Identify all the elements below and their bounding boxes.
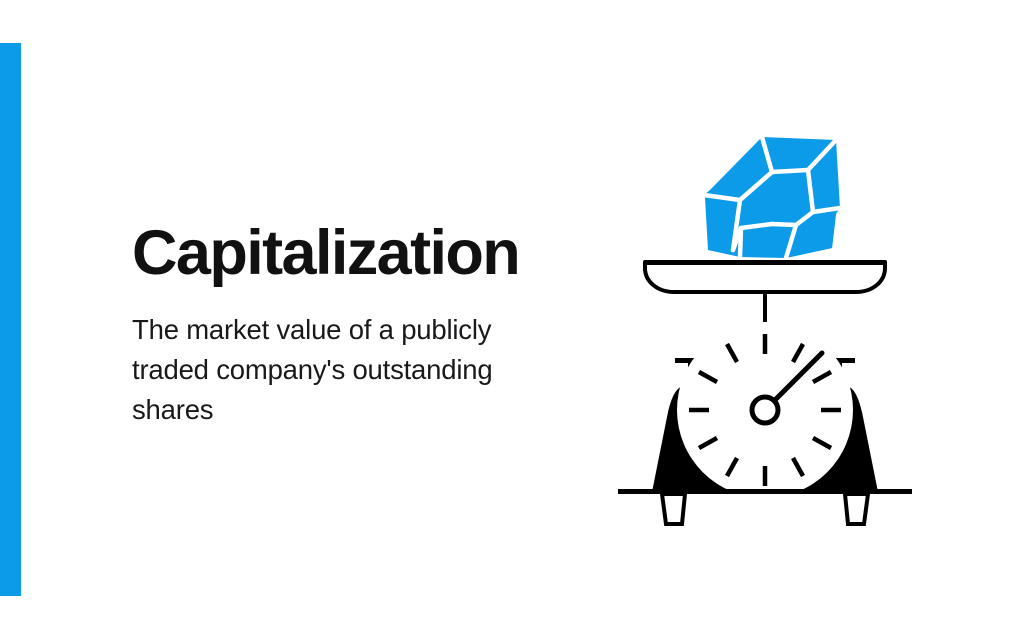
blue-gemstone-icon xyxy=(704,137,840,258)
text-block: Capitalization The market value of a pub… xyxy=(132,218,562,430)
scale-illustration-svg xyxy=(600,100,930,540)
slide-canvas: Capitalization The market value of a pub… xyxy=(0,0,1024,638)
definition-text: The market value of a publicly traded co… xyxy=(132,310,502,430)
page-title: Capitalization xyxy=(132,218,562,288)
scale-pan xyxy=(645,262,885,292)
weight-dial xyxy=(677,322,853,498)
illustration-kitchen-scale xyxy=(600,100,930,540)
left-accent-bar xyxy=(0,43,21,596)
dial-hub xyxy=(752,397,778,423)
